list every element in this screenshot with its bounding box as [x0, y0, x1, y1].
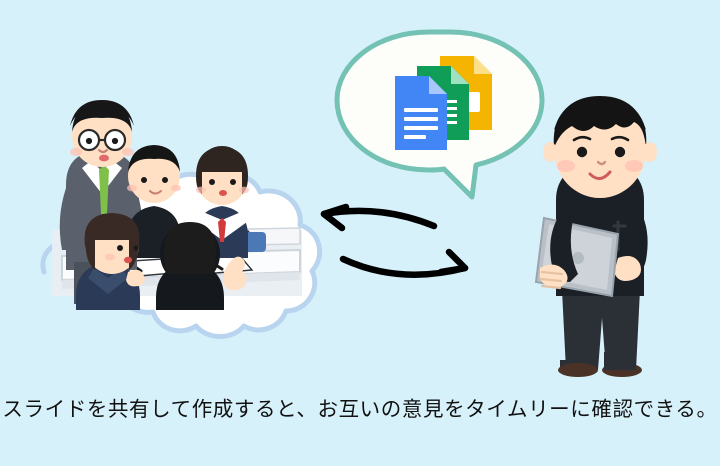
slide-canvas: スライドを共有して作成すると、お互いの意見をタイムリーに確認できる。 — [0, 0, 720, 466]
caption-text: スライドを共有して作成すると、お互いの意見をタイムリーに確認できる。 — [0, 392, 720, 422]
arrow-right — [343, 252, 465, 275]
arrow-left — [324, 207, 434, 228]
